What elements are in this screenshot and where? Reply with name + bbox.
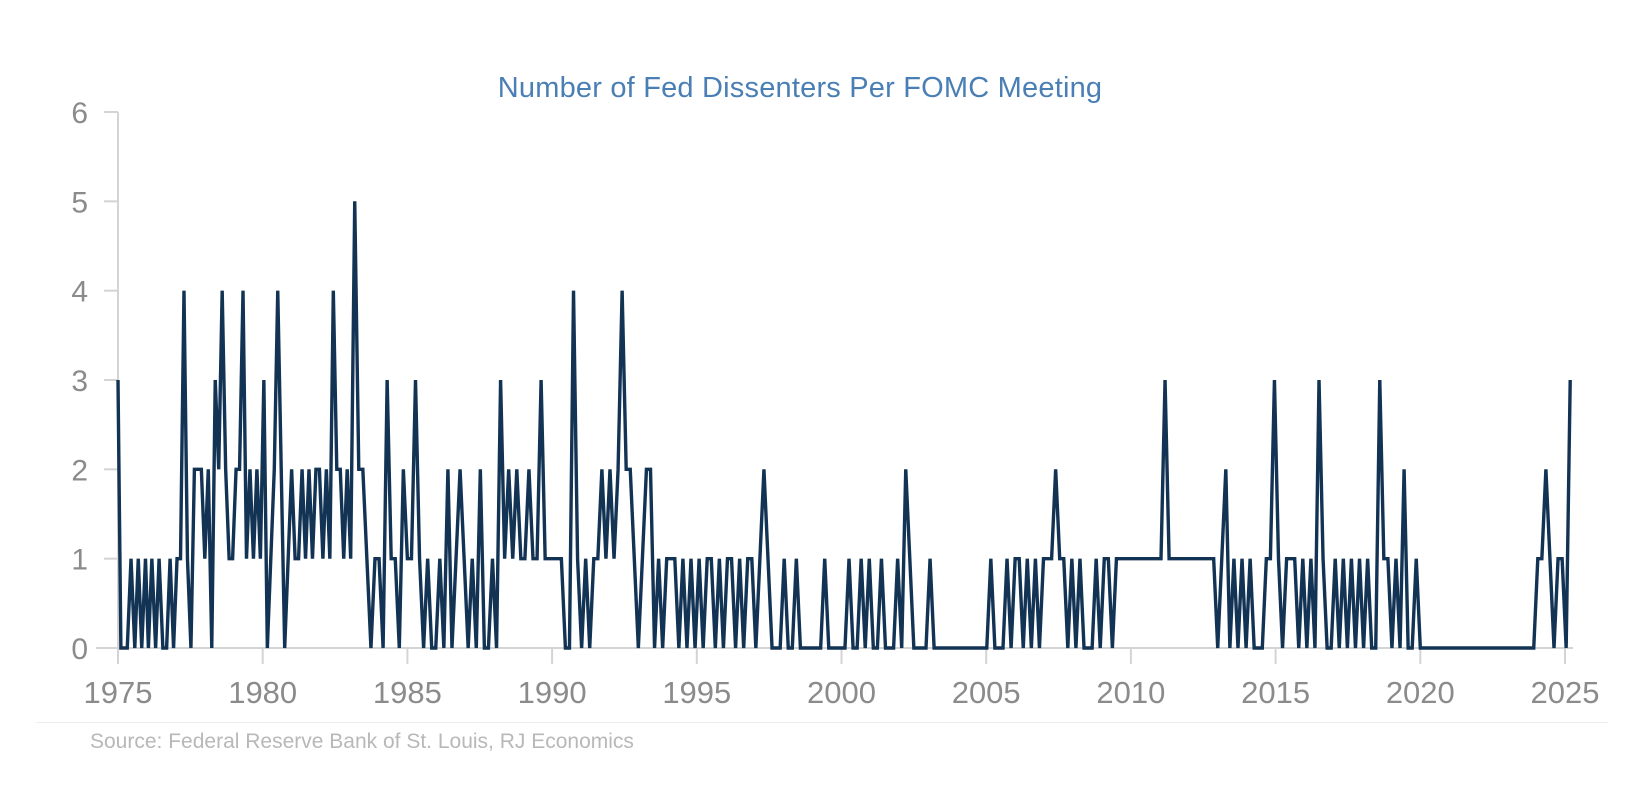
y-tick-label: 0 — [71, 633, 88, 666]
x-tick-label: 2010 — [1096, 675, 1165, 710]
y-axis-ticks: 0123456 — [71, 97, 118, 666]
chart-plot-area: 0123456 19751980198519901995200020052010… — [0, 0, 1644, 806]
x-tick-label: 1985 — [373, 675, 442, 710]
x-tick-label: 2000 — [807, 675, 876, 710]
source-divider — [36, 722, 1608, 723]
y-tick-label: 5 — [71, 186, 88, 219]
y-tick-label: 4 — [71, 276, 88, 309]
x-tick-label: 1975 — [84, 675, 153, 710]
x-tick-label: 1990 — [518, 675, 587, 710]
data-series-line — [118, 201, 1570, 648]
x-axis-ticks: 1975198019851990199520002005201020152020… — [84, 648, 1600, 710]
chart-figure: Number of Fed Dissenters Per FOMC Meetin… — [0, 0, 1644, 806]
y-tick-label: 2 — [71, 454, 88, 487]
x-tick-label: 2015 — [1241, 675, 1310, 710]
source-note: Source: Federal Reserve Bank of St. Loui… — [90, 730, 634, 754]
y-tick-label: 6 — [71, 97, 88, 130]
x-tick-label: 2005 — [952, 675, 1021, 710]
y-tick-label: 1 — [71, 544, 88, 577]
x-tick-label: 1995 — [662, 675, 731, 710]
x-tick-label: 2025 — [1531, 675, 1600, 710]
x-tick-label: 1980 — [228, 675, 297, 710]
x-tick-label: 2020 — [1386, 675, 1455, 710]
y-tick-label: 3 — [71, 365, 88, 398]
